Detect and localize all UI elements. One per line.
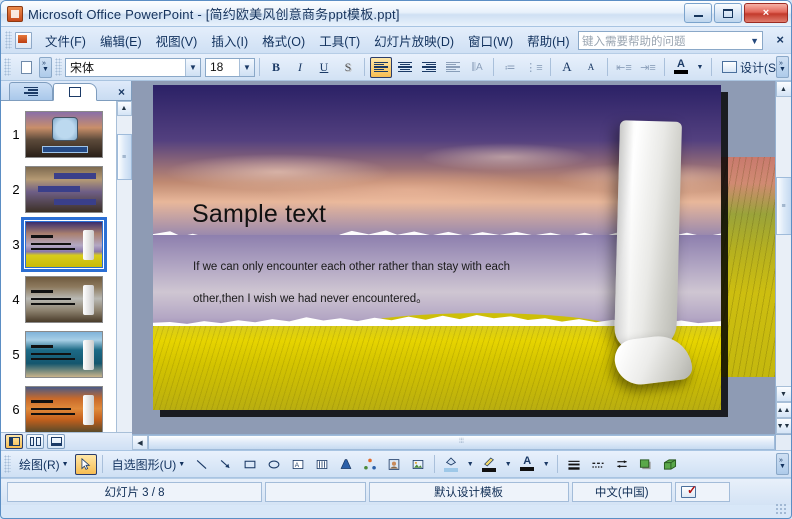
title-bar: Microsoft Office PowerPoint - [简约欧美风创意商务… — [1, 1, 791, 27]
chevron-down-icon: ▼ — [505, 461, 512, 468]
chevron-down-icon: ▼ — [697, 64, 704, 71]
toolbar-separator — [493, 58, 494, 76]
slide-thumbnail-3[interactable]: 3 — [1, 217, 131, 272]
thumbnail-title-marker — [31, 235, 53, 238]
slide-vertical-scrollbar[interactable]: ▲ ≡ ▼ ▲▲ ▼▼ — [775, 81, 791, 434]
insert-picture-button[interactable] — [407, 454, 429, 475]
new-document-button[interactable] — [15, 57, 37, 78]
drawing-toolbar-overflow[interactable]: »▼ — [776, 453, 789, 475]
align-right-button[interactable] — [418, 57, 440, 78]
spell-check-icon — [681, 486, 696, 498]
scroll-down-button[interactable]: ▼ — [776, 386, 792, 402]
text-box-button[interactable]: A — [287, 454, 309, 475]
toolbar-separator — [550, 58, 551, 76]
design-template-status: 默认设计模板 — [369, 482, 569, 502]
help-search-input[interactable]: 键入需要帮助的问题 ▼ — [578, 31, 763, 50]
text-shadow-button[interactable]: S — [337, 57, 359, 78]
scrollbar-corner — [775, 434, 791, 450]
document-icon — [15, 32, 32, 49]
line-color-icon — [482, 456, 496, 467]
minimize-button[interactable] — [684, 3, 712, 23]
bulleted-list-button[interactable]: ⋮≡ — [523, 57, 545, 78]
chevron-down-icon: ▼ — [543, 461, 550, 468]
clip-art-button[interactable] — [383, 454, 405, 475]
design-icon — [722, 61, 737, 73]
select-arrow-icon — [78, 458, 94, 471]
arrow-icon — [218, 458, 234, 471]
normal-view-button[interactable] — [5, 434, 23, 449]
toolbar-separator — [259, 58, 260, 76]
thumbnail-text-marker — [31, 353, 75, 363]
fill-color-icon — [444, 456, 458, 467]
next-slide-button[interactable]: ▼▼ — [776, 418, 792, 434]
thumbnail-text-marker — [31, 298, 75, 308]
design-button-label: 设计(S) — [740, 59, 780, 76]
font-color-icon: A — [677, 60, 685, 69]
vertical-text-box-button[interactable] — [311, 454, 333, 475]
font-color-dropdown[interactable]: ▼ — [694, 57, 706, 78]
thumbnail-title-marker — [31, 345, 53, 348]
clip-art-icon — [386, 458, 402, 471]
workspace: × 1 2 — [1, 81, 791, 450]
help-placeholder-text: 键入需要帮助的问题 — [582, 33, 686, 49]
slide-horizontal-scrollbar[interactable]: ◀ ⦙⦙⦙ — [132, 434, 775, 450]
menu-item-format[interactable]: 格式(O) — [255, 28, 312, 53]
slides-tab[interactable] — [53, 83, 97, 101]
oval-icon — [266, 458, 282, 471]
toolbar-separator — [557, 455, 558, 473]
slide-show-button[interactable] — [47, 434, 65, 449]
slide-thumbnail-1[interactable]: 1 — [1, 107, 131, 162]
slide-editing-area[interactable]: Sample text If we can only encounter eac… — [132, 81, 791, 450]
slide-number: 1 — [7, 127, 25, 142]
shadow-icon: S — [345, 60, 352, 75]
slide-sorter-button[interactable] — [26, 434, 44, 449]
slide-counter: 幻灯片 3 / 8 — [7, 482, 262, 502]
italic-button[interactable]: I — [289, 57, 311, 78]
menu-item-insert[interactable]: 插入(I) — [204, 28, 255, 53]
line-style-icon — [566, 458, 582, 471]
outline-tab[interactable] — [9, 82, 53, 100]
thumbnail-text-marker — [31, 243, 75, 253]
slide-thumbnail-6[interactable]: 6 — [1, 382, 131, 437]
font-name-combo[interactable]: 宋体 ▼ — [65, 58, 201, 77]
decrease-indent-icon: ⇤≡ — [616, 61, 632, 74]
slide-body-placeholder[interactable]: If we can only encounter each other rath… — [193, 251, 543, 315]
window-title: Microsoft Office PowerPoint - [简约欧美风创意商务… — [28, 4, 400, 23]
formatting-toolbar-gripper[interactable] — [55, 58, 62, 76]
slide-thumbnail-2[interactable]: 2 — [1, 162, 131, 217]
arrow-style-button[interactable] — [611, 454, 633, 475]
slide-title-placeholder[interactable]: Sample text — [192, 200, 326, 229]
slides-pane: × 1 2 — [1, 81, 132, 450]
line-button[interactable] — [191, 454, 213, 475]
align-center-button[interactable] — [394, 57, 416, 78]
menu-item-slideshow[interactable]: 幻灯片放映(D) — [367, 28, 461, 53]
restore-button[interactable] — [714, 3, 742, 23]
thumbnail-image — [25, 331, 103, 378]
slide-body-line-1: If we can only encounter each other rath… — [193, 251, 543, 283]
drawing-font-color-dropdown[interactable]: ▼ — [540, 454, 552, 475]
align-right-icon — [422, 62, 436, 73]
fill-color-swatch — [444, 468, 458, 472]
text-box-icon: A — [290, 458, 306, 471]
drawing-font-color-swatch — [520, 467, 534, 471]
line-color-swatch — [482, 468, 496, 472]
status-end-spacer — [733, 482, 785, 502]
menu-item-view[interactable]: 视图(V) — [149, 28, 205, 53]
bulleted-list-icon: ⋮≡ — [525, 61, 542, 74]
dash-style-icon — [590, 458, 606, 471]
shadow-style-button[interactable] — [635, 454, 657, 475]
font-size-combo[interactable]: 18 ▼ — [205, 58, 255, 77]
rectangle-button[interactable] — [239, 454, 261, 475]
arrow-button[interactable] — [215, 454, 237, 475]
paper-curl-shape — [614, 120, 682, 352]
character-spacing-icon: ⫼A — [471, 62, 482, 73]
close-document-button[interactable]: × — [776, 32, 784, 47]
underline-button[interactable]: U — [313, 57, 335, 78]
slide-number: 3 — [7, 237, 25, 252]
status-spacer — [265, 482, 366, 502]
line-spacing-button[interactable] — [442, 57, 464, 78]
powerpoint-icon — [7, 6, 23, 22]
standard-toolbar-gripper[interactable] — [4, 58, 11, 76]
align-center-icon — [398, 62, 412, 73]
outline-icon — [24, 87, 38, 97]
menu-gripper[interactable] — [5, 31, 12, 49]
powerpoint-window: Microsoft Office PowerPoint - [简约欧美风创意商务… — [0, 0, 792, 519]
chevron-down-icon: ▼ — [467, 461, 474, 468]
increase-font-size-button[interactable]: A — [556, 57, 578, 78]
menu-item-tools[interactable]: 工具(T) — [312, 28, 367, 53]
menu-item-help[interactable]: 帮助(H) — [520, 28, 576, 53]
toolbar-separator — [364, 58, 365, 76]
numbered-list-icon: ≔ — [505, 61, 516, 74]
pane-tab-strip: × — [1, 81, 131, 101]
toolbar-separator — [664, 58, 665, 76]
chevron-down-icon: ▼ — [178, 461, 185, 468]
draw-menu-button[interactable]: 绘图(R) ▼ — [14, 453, 74, 476]
standard-toolbar-overflow[interactable]: »▼ — [39, 57, 52, 78]
slide-number: 5 — [7, 347, 25, 362]
status-bar: 幻灯片 3 / 8 默认设计模板 中文(中国) — [1, 478, 791, 505]
scroll-thumb[interactable]: ⦙⦙⦙ — [148, 435, 775, 450]
3d-style-button[interactable] — [659, 454, 681, 475]
shadow-style-icon — [638, 458, 654, 471]
wordart-button[interactable] — [335, 454, 357, 475]
drawing-toolbar-gripper[interactable] — [4, 455, 11, 473]
chevron-down-icon: ▼ — [62, 461, 69, 468]
font-color-swatch — [674, 70, 688, 74]
italic-icon: I — [298, 60, 302, 75]
thumbnail-text-marker — [31, 408, 75, 418]
font-size-value: 18 — [210, 60, 223, 74]
slide-number: 2 — [7, 182, 25, 197]
thumbnail-title-marker — [31, 290, 53, 293]
diagram-button[interactable] — [359, 454, 381, 475]
font-size-chevron-down-icon[interactable]: ▼ — [239, 59, 254, 76]
spell-check-status[interactable] — [675, 482, 730, 502]
increase-font-size-icon: A — [562, 59, 571, 75]
wordart-icon — [338, 458, 354, 471]
vertical-text-box-icon — [314, 458, 330, 471]
character-spacing-button[interactable]: ⫼A — [466, 57, 488, 78]
scroll-left-button[interactable]: ◀ — [132, 435, 148, 450]
slide-number: 6 — [7, 402, 25, 417]
scroll-thumb[interactable]: ≡ — [776, 177, 792, 235]
font-color-button[interactable]: A — [670, 57, 692, 78]
scroll-up-button[interactable]: ▲ — [776, 81, 792, 97]
align-left-button[interactable] — [370, 57, 392, 78]
menu-item-window[interactable]: 窗口(W) — [461, 28, 520, 53]
dash-style-button[interactable] — [587, 454, 609, 475]
close-button[interactable]: × — [744, 3, 788, 23]
scroll-up-button[interactable]: ▲ — [117, 101, 132, 116]
slides-pane-scrollbar[interactable]: ▲ ≡ ▼ — [116, 101, 131, 450]
increase-indent-icon: ⇥≡ — [640, 61, 656, 74]
picture-icon — [410, 458, 426, 471]
close-pane-button[interactable]: × — [118, 85, 125, 99]
3d-style-icon — [662, 458, 678, 471]
chevron-down-icon[interactable]: ▼ — [750, 36, 759, 46]
thumbnail-image — [25, 221, 103, 268]
thumbnail-title-marker — [31, 400, 53, 403]
decrease-indent-button[interactable]: ⇤≡ — [613, 57, 635, 78]
fill-color-button[interactable] — [440, 454, 462, 475]
slide-thumbnail-5[interactable]: 5 — [1, 327, 131, 382]
bold-button[interactable]: B — [265, 57, 287, 78]
font-name-chevron-down-icon[interactable]: ▼ — [185, 59, 200, 76]
view-buttons — [1, 432, 132, 450]
increase-indent-button[interactable]: ⇥≡ — [637, 57, 659, 78]
rectangle-icon — [242, 458, 258, 471]
line-style-button[interactable] — [563, 454, 585, 475]
slides-icon — [69, 87, 81, 97]
slide-number: 4 — [7, 292, 25, 307]
previous-slide-button[interactable]: ▲▲ — [776, 402, 792, 418]
toolbar-separator — [711, 58, 712, 76]
resize-grip[interactable] — [775, 503, 787, 515]
slide-show-icon — [51, 437, 62, 446]
bold-icon: B — [272, 60, 280, 75]
language-status[interactable]: 中文(中国) — [572, 482, 673, 502]
menu-item-file[interactable]: 文件(F) — [38, 28, 93, 53]
current-slide[interactable]: Sample text If we can only encounter eac… — [153, 85, 721, 410]
slide-sorter-icon — [30, 437, 41, 446]
autoshapes-menu-button[interactable]: 自选图形(U) ▼ — [107, 453, 191, 476]
select-objects-button[interactable] — [75, 454, 97, 475]
slide-body-line-2: other,then I wish we had never encounter… — [193, 283, 543, 315]
thumbnail-image — [25, 276, 103, 323]
decrease-font-size-icon: A — [588, 62, 595, 72]
current-slide-wrapper: Sample text If we can only encounter eac… — [153, 85, 721, 410]
line-spacing-icon — [446, 62, 460, 73]
decrease-font-size-button[interactable]: A — [580, 57, 602, 78]
line-color-dropdown[interactable]: ▼ — [502, 454, 514, 475]
toolbar-separator — [434, 455, 435, 473]
drawing-font-color-icon: A — [523, 457, 531, 466]
menu-item-edit[interactable]: 编辑(E) — [93, 28, 149, 53]
thumbnail-image — [25, 111, 103, 158]
autoshapes-menu-label: 自选图形(U) — [112, 456, 177, 473]
slide-thumbnail-list[interactable]: 1 2 3 — [1, 101, 131, 450]
formatting-toolbar-overflow[interactable]: »▼ — [776, 56, 789, 78]
scroll-track[interactable]: ⦙⦙⦙ — [148, 435, 775, 451]
slide-thumbnail-4[interactable]: 4 — [1, 272, 131, 327]
diagram-icon — [362, 458, 378, 471]
underline-icon: U — [320, 60, 329, 75]
menu-bar: 文件(F) 编辑(E) 视图(V) 插入(I) 格式(O) 工具(T) 幻灯片放… — [1, 27, 791, 54]
drawing-toolbar: 绘图(R) ▼ 自选图形(U) ▼ A — [1, 450, 791, 478]
scroll-track[interactable]: ≡ — [117, 116, 132, 435]
formatting-toolbar: »▼ 宋体 ▼ 18 ▼ B I U S ⫼A — [1, 54, 791, 81]
toolbar-separator — [102, 455, 103, 473]
draw-menu-label: 绘图(R) — [19, 456, 60, 473]
drawing-font-color-button[interactable]: A — [516, 454, 538, 475]
scroll-thumb[interactable]: ≡ — [117, 134, 132, 180]
fill-color-dropdown[interactable]: ▼ — [464, 454, 476, 475]
align-left-icon — [374, 62, 388, 73]
normal-view-icon — [9, 437, 20, 446]
numbered-list-button[interactable]: ≔ — [499, 57, 521, 78]
thumbnail-image — [25, 386, 103, 433]
svg-text:A: A — [295, 461, 300, 468]
line-icon — [194, 458, 210, 471]
font-name-value: 宋体 — [70, 59, 94, 76]
arrow-style-icon — [614, 458, 630, 471]
scroll-track[interactable]: ≡ — [776, 97, 792, 386]
line-color-button[interactable] — [478, 454, 500, 475]
window-controls: × — [684, 3, 788, 23]
toolbar-separator — [607, 58, 608, 76]
oval-button[interactable] — [263, 454, 285, 475]
thumbnail-image — [25, 166, 103, 213]
